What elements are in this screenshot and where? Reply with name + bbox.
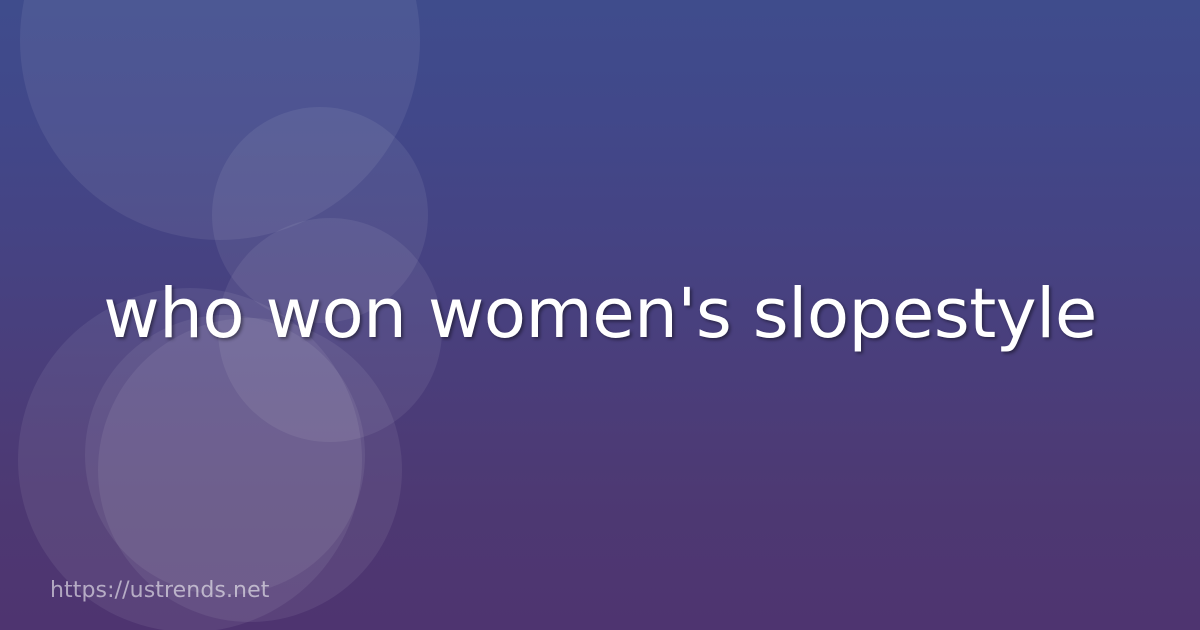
page-title: who won women's slopestyle — [103, 276, 1097, 353]
title-container: who won women's slopestyle — [0, 0, 1200, 630]
og-share-card: who won women's slopestyle https://ustre… — [0, 0, 1200, 630]
site-url: https://ustrends.net — [50, 580, 269, 602]
